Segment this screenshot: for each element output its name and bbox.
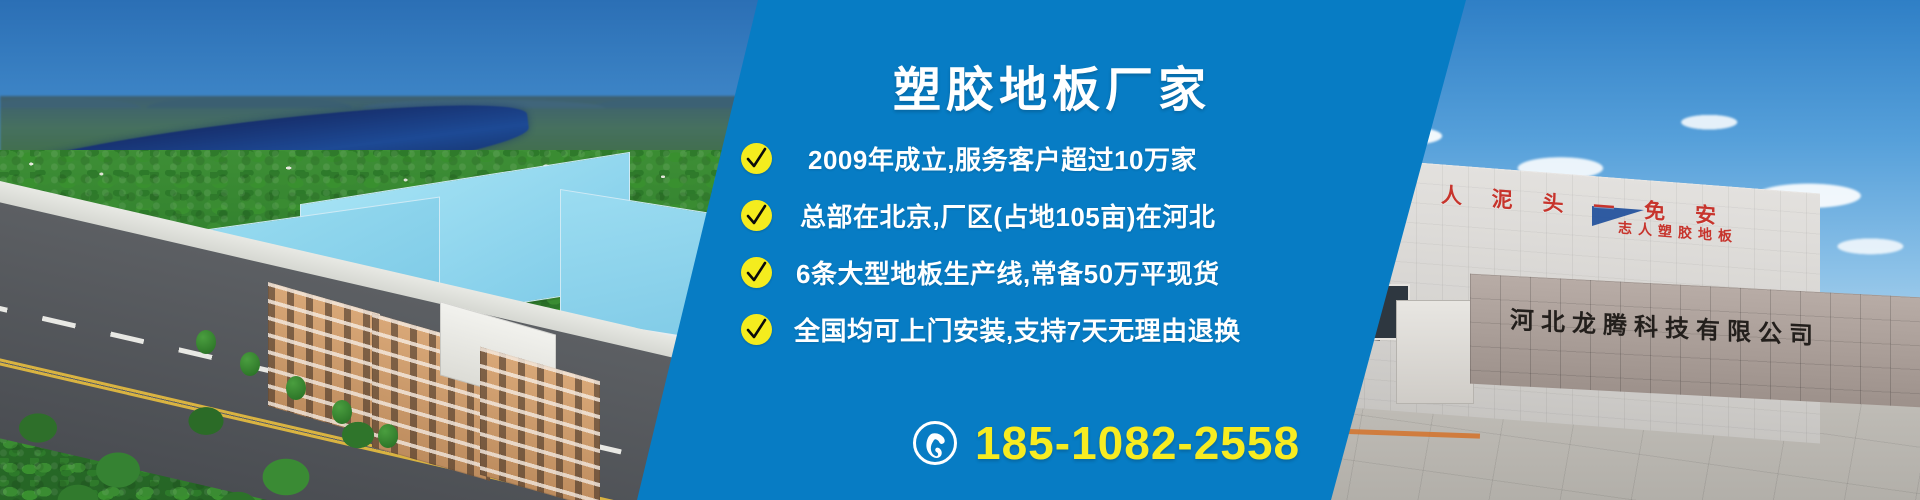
feature-text: 6条大型地板生产线,常备50万平现货 — [796, 254, 1220, 291]
list-item: 全国均可上门安装,支持7天无理由退换 — [741, 302, 1441, 356]
promo-banner: 一 人 泥 头 一 免 安 志人塑胶地板 河北龙腾科技有限公司 塑胶地板厂家 2… — [0, 0, 1920, 500]
phone-number[interactable]: 185-1082-2558 — [975, 416, 1300, 470]
feature-text: 2009年成立,服务客户超过10万家 — [808, 140, 1197, 177]
list-item: 2009年成立,服务客户超过10万家 — [741, 131, 1441, 185]
check-circle-icon — [741, 257, 772, 288]
contact-phone-row[interactable]: 185-1082-2558 — [913, 416, 1300, 470]
panel-content: 塑胶地板厂家 2009年成立,服务客户超过10万家 总部在北京,厂区(占地105… — [637, 0, 1467, 500]
street-tree — [196, 330, 216, 354]
roadside-trees — [0, 372, 390, 500]
phone-circle-icon — [913, 421, 957, 465]
feature-text: 全国均可上门安装,支持7天无理由退换 — [794, 311, 1241, 348]
feature-text: 总部在北京,厂区(占地105亩)在河北 — [800, 197, 1215, 234]
check-circle-icon — [741, 143, 772, 174]
feature-list: 2009年成立,服务客户超过10万家 总部在北京,厂区(占地105亩)在河北 6… — [741, 131, 1441, 359]
list-item: 6条大型地板生产线,常备50万平现货 — [741, 245, 1441, 299]
page-title: 塑胶地板厂家 — [637, 50, 1467, 120]
check-circle-icon — [741, 314, 772, 345]
list-item: 总部在北京,厂区(占地105亩)在河北 — [741, 188, 1441, 242]
check-circle-icon — [741, 200, 772, 231]
